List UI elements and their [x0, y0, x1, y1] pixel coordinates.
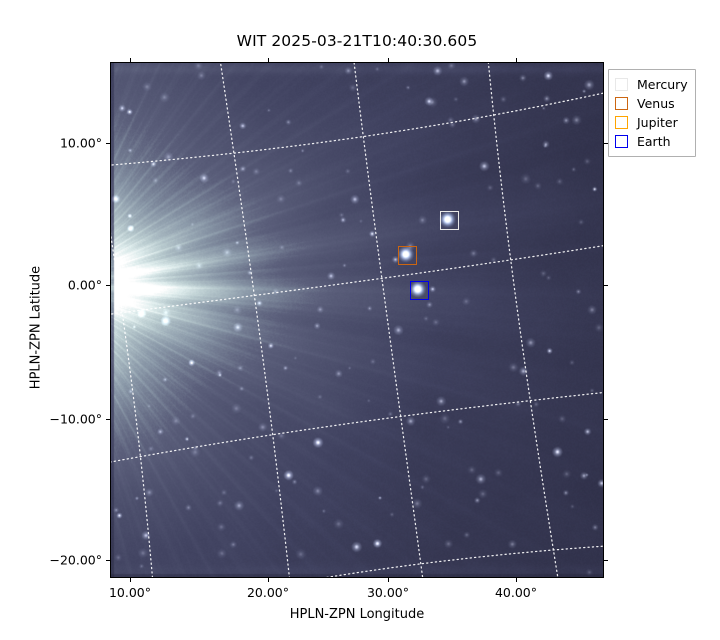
legend-swatch-icon	[615, 135, 628, 148]
x-tick-mark-top	[388, 58, 389, 62]
figure-canvas: WIT 2025-03-21T10:40:30.605 10.00°20.00°…	[0, 0, 720, 640]
y-axis-label: HPLN-ZPN Latitude	[29, 248, 44, 408]
y-tick-mark	[106, 143, 110, 144]
page-title: WIT 2025-03-21T10:40:30.605	[110, 32, 604, 50]
legend-item-jupiter[interactable]: Jupiter	[615, 113, 688, 132]
y-tick-mark-right	[604, 285, 608, 286]
x-tick-label: 30.00°	[367, 585, 409, 600]
y-tick-mark	[106, 560, 110, 561]
x-tick-label: 10.00°	[109, 585, 151, 600]
legend-item-earth[interactable]: Earth	[615, 132, 688, 151]
legend-item-venus[interactable]: Venus	[615, 94, 688, 113]
y-tick-mark	[106, 419, 110, 420]
coronagraph-image	[111, 63, 603, 577]
y-tick-mark-right	[604, 560, 608, 561]
x-tick-mark-top	[268, 58, 269, 62]
legend-item-label: Earth	[637, 134, 671, 149]
legend-swatch-icon	[615, 78, 628, 91]
legend-item-label: Jupiter	[637, 115, 678, 130]
y-tick-label: 0.00°	[0, 278, 102, 293]
x-tick-mark	[130, 578, 131, 582]
legend-item-mercury[interactable]: Mercury	[615, 75, 688, 94]
legend-box[interactable]: MercuryVenusJupiterEarth	[608, 69, 696, 157]
x-tick-mark	[388, 578, 389, 582]
y-tick-label: −20.00°	[0, 553, 102, 568]
legend-item-label: Mercury	[637, 77, 688, 92]
y-tick-label: 10.00°	[0, 136, 102, 151]
x-axis-label: HPLN-ZPN Longitude	[110, 607, 604, 622]
legend-item-label: Venus	[637, 96, 675, 111]
x-tick-label: 40.00°	[495, 585, 537, 600]
legend-swatch-icon	[615, 116, 628, 129]
legend-swatch-icon	[615, 97, 628, 110]
y-tick-mark-right	[604, 419, 608, 420]
x-tick-mark-top	[130, 58, 131, 62]
y-tick-label: −10.00°	[0, 412, 102, 427]
x-tick-mark-top	[516, 58, 517, 62]
plot-axes[interactable]	[110, 62, 604, 578]
y-tick-mark	[106, 285, 110, 286]
x-tick-mark	[268, 578, 269, 582]
x-tick-mark	[516, 578, 517, 582]
x-tick-label: 20.00°	[247, 585, 289, 600]
